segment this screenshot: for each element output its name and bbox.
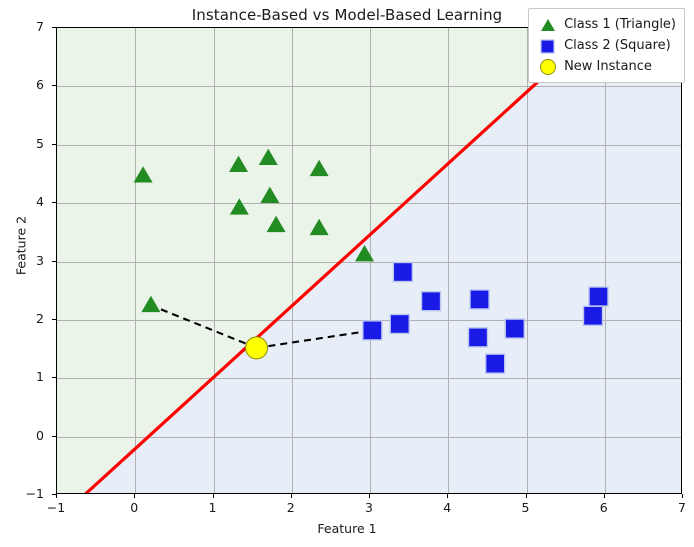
square-marker-icon	[535, 37, 561, 55]
y-axis-tick	[52, 202, 56, 203]
y-axis-tick	[52, 144, 56, 145]
x-axis-tick	[682, 494, 683, 498]
x-axis-tick	[526, 494, 527, 498]
data-point-triangle	[134, 166, 153, 182]
x-axis-tick	[369, 494, 370, 498]
data-point-triangle	[141, 296, 160, 312]
legend-item[interactable]: Class 2 (Square)	[535, 35, 676, 56]
data-point-square	[589, 287, 608, 306]
chart-figure: Instance-Based vs Model-Based Learning −…	[0, 0, 694, 547]
x-tick-label: 5	[506, 500, 546, 515]
neighbor-link-line	[151, 305, 257, 348]
decision-boundary-line	[84, 28, 597, 494]
y-tick-label: −1	[0, 486, 44, 501]
data-point-new-instance	[246, 337, 268, 359]
x-tick-label: 1	[193, 500, 233, 515]
data-point-square	[505, 319, 524, 338]
legend-label: Class 2 (Square)	[561, 38, 671, 53]
triangle-marker-icon	[535, 16, 561, 34]
y-tick-label: 6	[0, 77, 44, 92]
x-tick-label: −1	[36, 500, 76, 515]
y-axis-tick	[52, 261, 56, 262]
y-axis-tick	[52, 85, 56, 86]
x-tick-label: 6	[584, 500, 624, 515]
y-tick-label: 7	[0, 19, 44, 34]
data-point-square	[584, 306, 603, 325]
y-tick-label: 0	[0, 428, 44, 443]
x-axis-label: Feature 1	[0, 521, 694, 536]
y-tick-label: 5	[0, 136, 44, 151]
data-point-triangle	[310, 219, 329, 235]
legend: Class 1 (Triangle)Class 2 (Square)New In…	[528, 8, 685, 83]
x-axis-tick	[604, 494, 605, 498]
x-axis-tick	[447, 494, 448, 498]
data-point-square	[363, 321, 382, 340]
x-tick-label: 3	[349, 500, 389, 515]
data-point-triangle	[259, 149, 278, 165]
data-point-triangle	[310, 160, 329, 176]
y-axis-tick	[52, 377, 56, 378]
legend-item[interactable]: Class 1 (Triangle)	[535, 14, 676, 35]
legend-item[interactable]: New Instance	[535, 56, 676, 77]
neighbor-link-line	[257, 330, 373, 348]
data-point-square	[390, 314, 409, 333]
data-point-triangle	[260, 187, 279, 203]
x-tick-label: 0	[114, 500, 154, 515]
data-point-triangle	[267, 216, 286, 232]
legend-label: New Instance	[561, 59, 652, 74]
plot-area	[56, 27, 682, 494]
data-point-square	[468, 328, 487, 347]
x-axis-tick	[213, 494, 214, 498]
circle-marker-icon	[535, 58, 561, 76]
y-axis-label: Feature 2	[14, 196, 29, 296]
y-axis-tick	[52, 436, 56, 437]
data-point-square	[422, 292, 441, 311]
y-axis-tick	[52, 494, 56, 495]
x-tick-label: 7	[662, 500, 694, 515]
y-axis-tick	[52, 27, 56, 28]
data-point-square	[393, 263, 412, 282]
x-axis-tick	[291, 494, 292, 498]
y-tick-label: 2	[0, 311, 44, 326]
data-point-triangle	[230, 198, 249, 214]
x-tick-label: 2	[271, 500, 311, 515]
x-tick-label: 4	[427, 500, 467, 515]
legend-label: Class 1 (Triangle)	[561, 17, 676, 32]
data-point-square	[486, 354, 505, 373]
x-axis-tick	[56, 494, 57, 498]
y-tick-label: 1	[0, 369, 44, 384]
data-point-square	[470, 290, 489, 309]
data-point-triangle	[229, 156, 248, 172]
x-axis-tick	[134, 494, 135, 498]
y-axis-tick	[52, 319, 56, 320]
data-overlay	[57, 28, 682, 494]
